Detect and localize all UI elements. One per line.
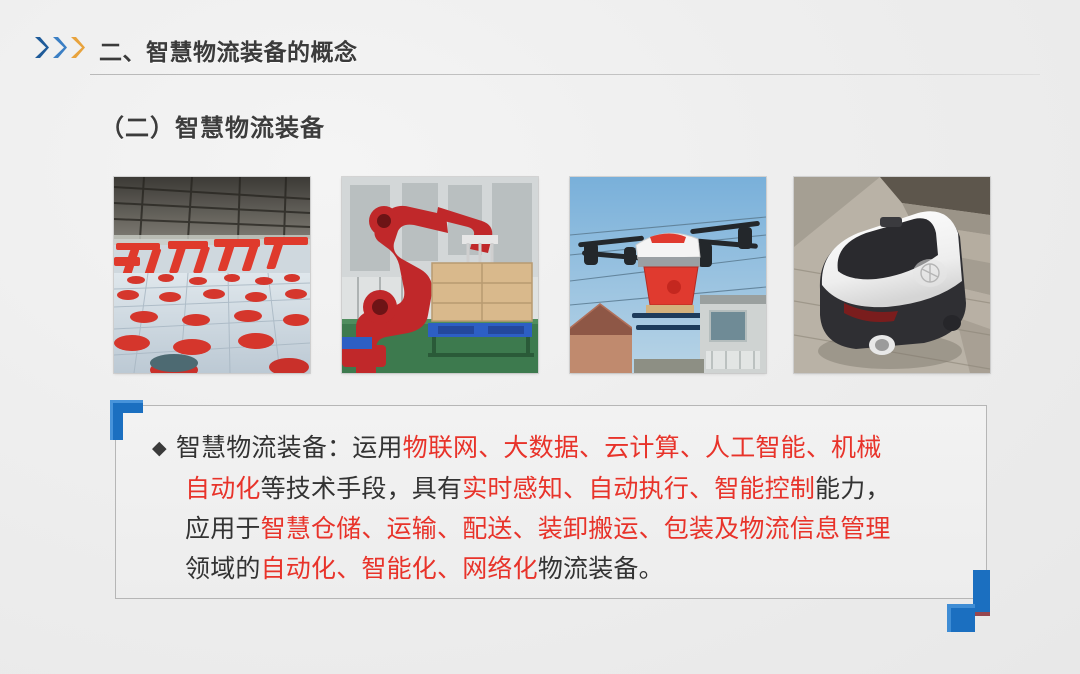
photo-palletizing-robot-arm	[342, 177, 538, 373]
photo-autonomous-delivery-robot	[794, 177, 990, 373]
line1-seg2: 物联网、大数据、云计算、人工智能、机械	[403, 434, 882, 462]
line1-seg1: 智慧物流装备：运用	[176, 434, 403, 462]
chevron-group-icon	[33, 36, 86, 59]
description-line-4: 领域的自动化、智能化、网络化物流装备。	[152, 549, 964, 589]
photo-strip	[114, 177, 994, 373]
section-subtitle: （二）智慧物流装备	[100, 108, 325, 143]
slide-canvas: 二、智慧物流装备的概念 （二）智慧物流装备	[0, 0, 1080, 674]
photo-warehouse-agv-robots	[114, 177, 310, 373]
line4-seg3: 物流装备。	[538, 555, 664, 583]
photo-delivery-drone	[570, 177, 766, 373]
line2-seg1: 自动化	[185, 475, 261, 503]
line2-seg3: 实时感知、自动执行、智能控制	[462, 475, 815, 503]
line3-seg2: 智慧仓储、运输、配送、装卸搬运、包装及物流信息管理	[261, 515, 891, 543]
bullet-diamond-icon: ◆	[152, 438, 167, 459]
chevron-1-icon	[33, 36, 50, 59]
description-line-2: 自动化等技术手段，具有实时感知、自动执行、智能控制能力，	[152, 469, 964, 509]
line3-seg1: 应用于	[185, 515, 261, 543]
corner-bracket-top-left-icon	[110, 400, 150, 440]
chevron-3-icon	[69, 36, 86, 59]
line4-seg1: 领域的	[185, 555, 261, 583]
page-title: 二、智慧物流装备的概念	[99, 33, 358, 67]
corner-bracket-bottom-right-icon	[947, 570, 993, 632]
description-line-1: ◆智慧物流装备：运用物联网、大数据、云计算、人工智能、机械	[152, 428, 964, 469]
line4-seg2: 自动化、智能化、网络化	[261, 555, 538, 583]
line2-seg4: 能力，	[815, 475, 891, 503]
slide-header: 二、智慧物流装备的概念	[0, 0, 1080, 82]
description-line-3: 应用于智慧仓储、运输、配送、装卸搬运、包装及物流信息管理	[152, 509, 964, 549]
description-text: ◆智慧物流装备：运用物联网、大数据、云计算、人工智能、机械 自动化等技术手段，具…	[152, 428, 964, 589]
header-divider	[90, 74, 1040, 75]
chevron-2-icon	[51, 36, 68, 59]
line2-seg2: 等技术手段，具有	[261, 475, 463, 503]
